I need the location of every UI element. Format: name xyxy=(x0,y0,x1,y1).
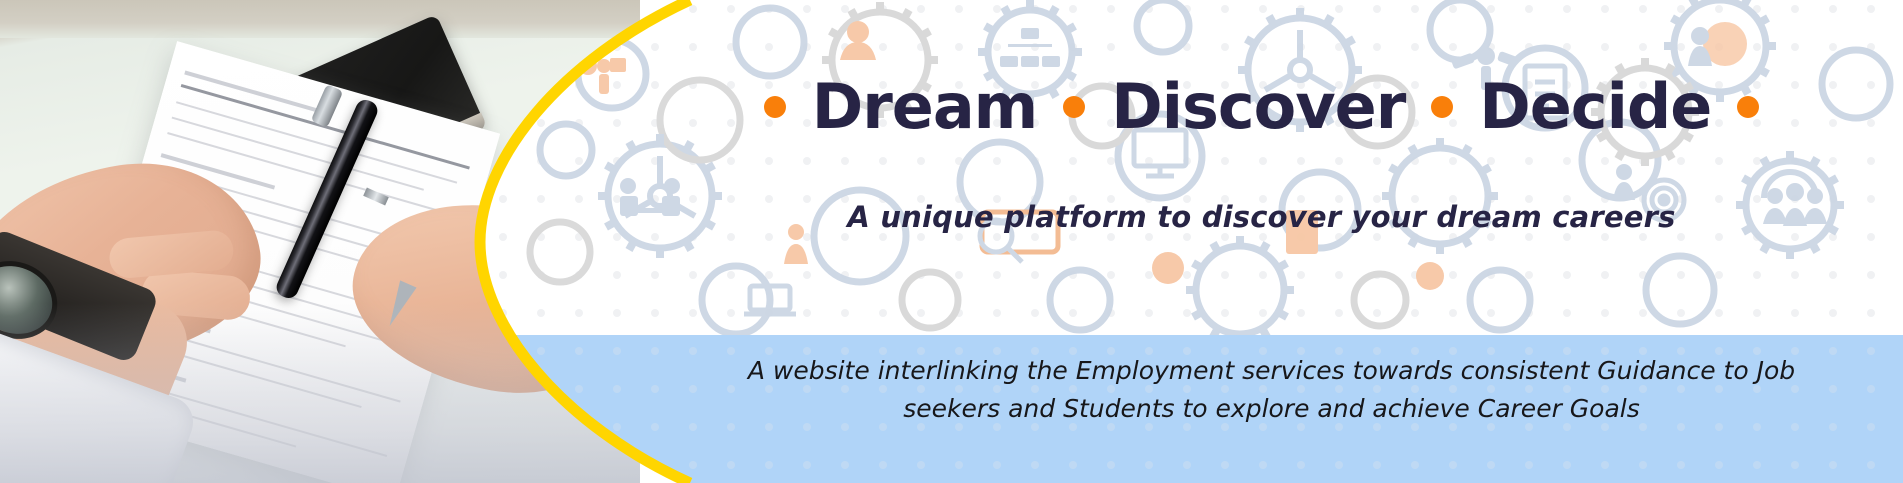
headline-word-dream: Dream xyxy=(812,76,1038,138)
bullet-dot-2 xyxy=(1063,96,1085,118)
bullet-dot-4 xyxy=(1737,96,1759,118)
headline-word-decide: Decide xyxy=(1479,76,1711,138)
headline: Dream Discover Decide xyxy=(620,76,1903,138)
description-line-2: seekers and Students to explore and achi… xyxy=(640,390,1903,428)
subtitle: A unique platform to discover your dream… xyxy=(620,200,1903,234)
headline-word-discover: Discover xyxy=(1111,76,1405,138)
description-line-1: A website interlinking the Employment se… xyxy=(640,352,1903,390)
description-text: A website interlinking the Employment se… xyxy=(640,352,1903,427)
bullet-dot-3 xyxy=(1431,96,1453,118)
bullet-dot-1 xyxy=(764,96,786,118)
promo-banner: Dream Discover Decide A unique platform … xyxy=(0,0,1903,483)
